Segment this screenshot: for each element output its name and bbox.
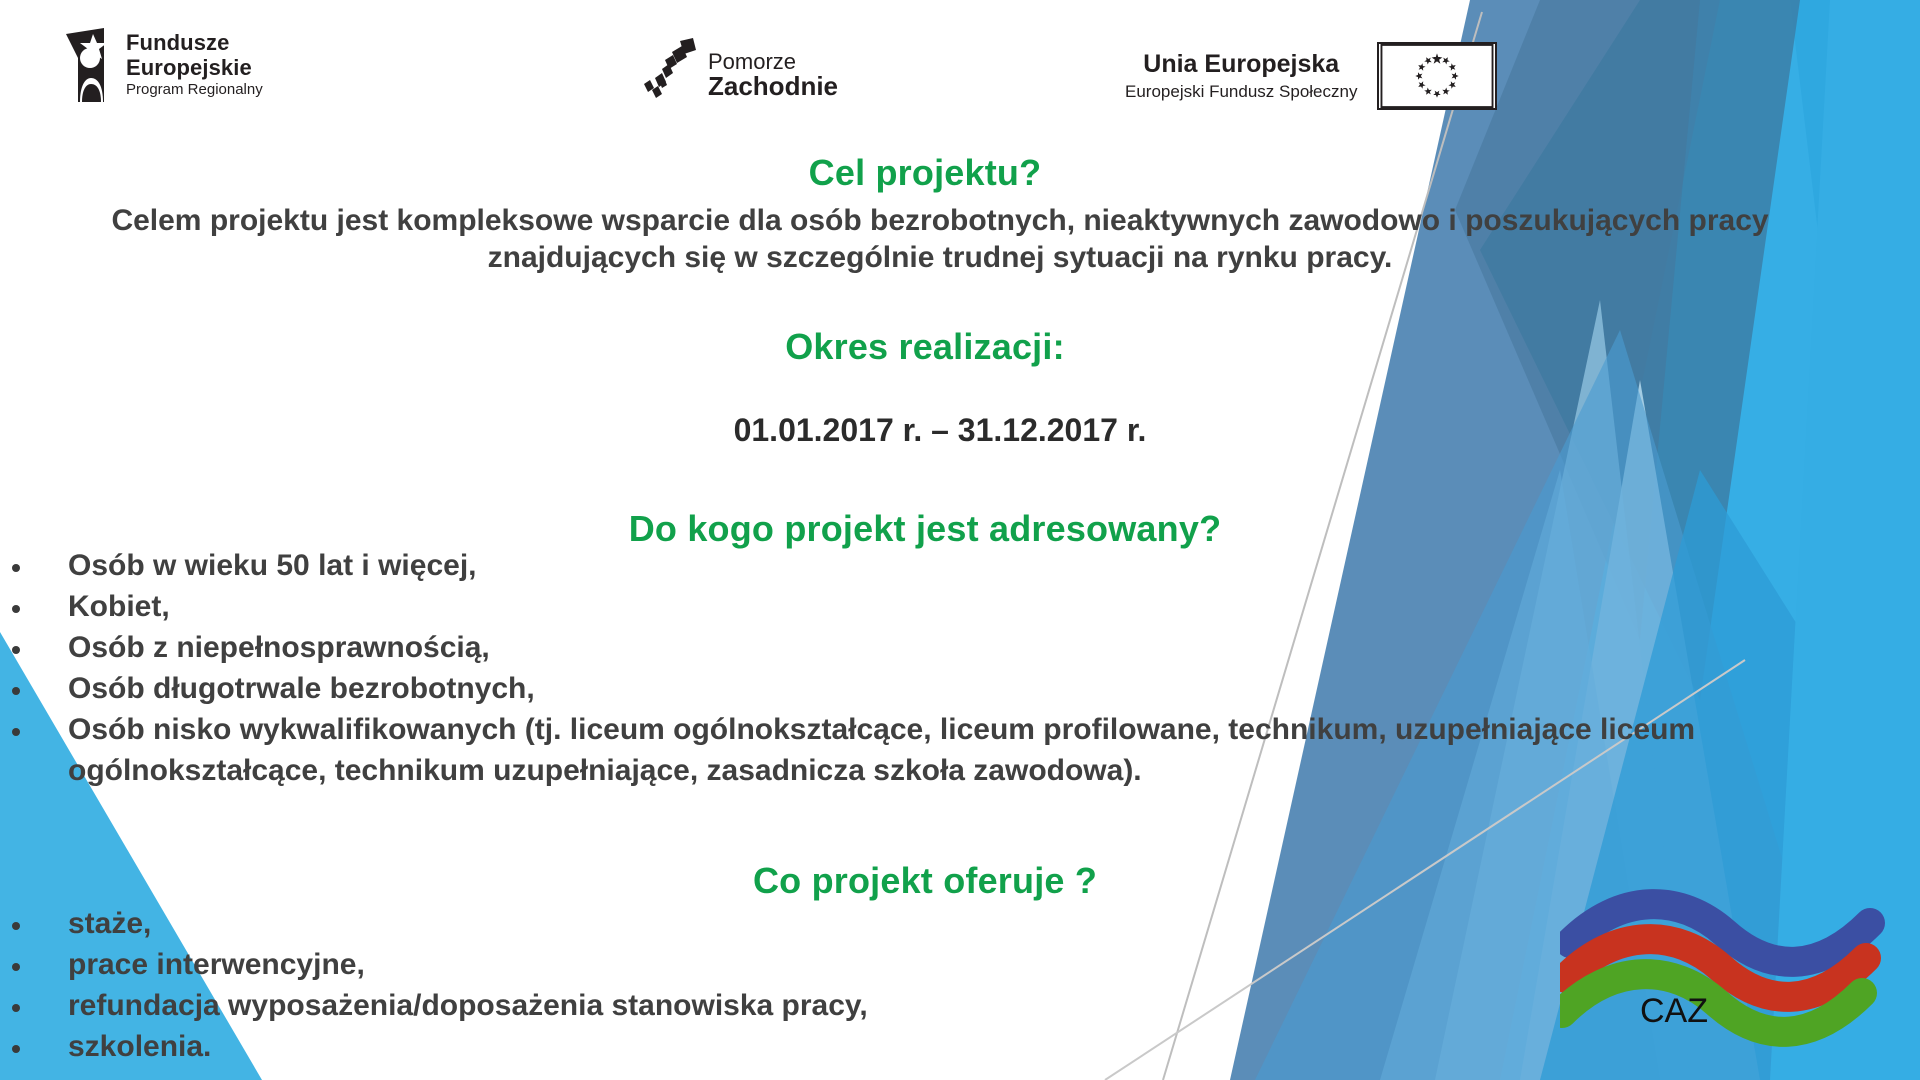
list-item: Osób długotrwale bezrobotnych, — [0, 668, 1760, 709]
list-item: Osób z niepełnosprawnością, — [0, 627, 1760, 668]
list-item: szkolenia. — [0, 1026, 1760, 1067]
oferuje-list: staże, prace interwencyjne, refundacja w… — [0, 903, 1760, 1067]
adresowany-list: Osób w wieku 50 lat i więcej, Kobiet, Os… — [0, 545, 1760, 792]
list-item: refundacja wyposażenia/doposażenia stano… — [0, 985, 1760, 1026]
heading-okres-realizacji: Okres realizacji: — [0, 326, 1850, 368]
heading-cel-projektu: Cel projektu? — [0, 152, 1850, 194]
list-item: prace interwencyjne, — [0, 944, 1760, 985]
okres-realizacji-value: 01.01.2017 r. – 31.12.2017 r. — [40, 412, 1840, 449]
list-item: Osób w wieku 50 lat i więcej, — [0, 545, 1760, 586]
presentation-slide: Fundusze Europejskie Program Regionalny — [0, 0, 1920, 1080]
list-item: staże, — [0, 903, 1760, 944]
heading-do-kogo-adresowany: Do kogo projekt jest adresowany? — [0, 508, 1850, 550]
list-item: Kobiet, — [0, 586, 1760, 627]
caz-label: CAZ — [1640, 992, 1708, 1031]
caz-wave-mark — [1560, 888, 1890, 1063]
logo-caz: CAZ — [1560, 888, 1890, 1063]
paragraph-cel-projektu: Celem projektu jest kompleksowe wsparcie… — [40, 203, 1840, 276]
list-item: Osób nisko wykwalifikowanych (tj. liceum… — [0, 709, 1760, 791]
